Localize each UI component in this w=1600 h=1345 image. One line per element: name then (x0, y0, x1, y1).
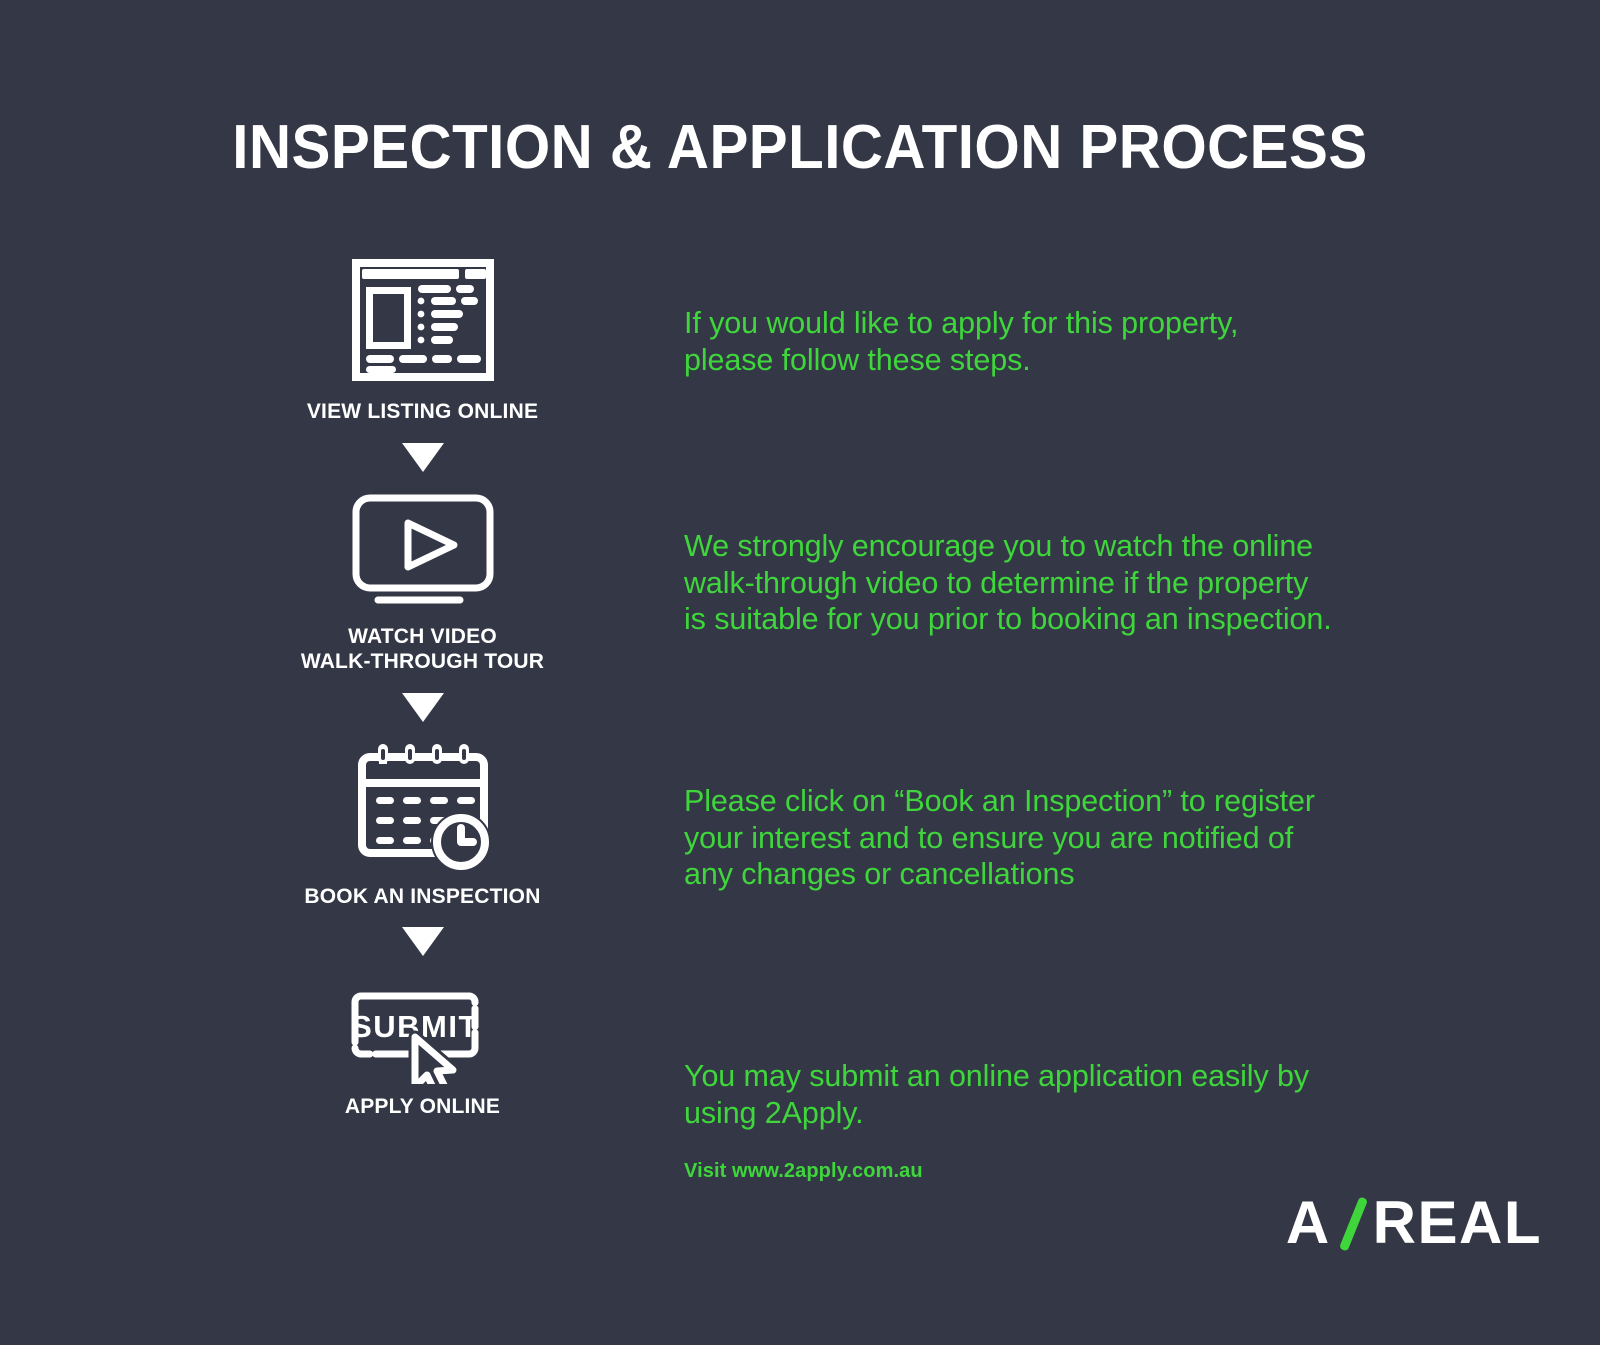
step-label: BOOK AN INSPECTION (285, 884, 560, 910)
infographic-page: INSPECTION & APPLICATION PROCESS (0, 0, 1600, 1345)
triangle-down-icon (285, 693, 560, 722)
page-title: INSPECTION & APPLICATION PROCESS (48, 112, 1552, 183)
areal-logo: A REAL (1286, 1192, 1542, 1254)
logo-prefix: A (1286, 1193, 1331, 1253)
calendar-clock-icon (285, 740, 560, 870)
submit-button-cursor-icon: SUBMIT (285, 974, 560, 1084)
step-apply-online: SUBMIT APPLY ONLINE (285, 974, 560, 1120)
step-copy-book-inspection: Please click on “Book an Inspection” to … (684, 783, 1444, 893)
step-label: WATCH VIDEO WALK-THROUGH TOUR (285, 624, 560, 675)
logo-suffix: REAL (1373, 1193, 1542, 1253)
triangle-down-icon (285, 927, 560, 956)
video-play-screen-icon (285, 490, 560, 610)
slash-icon (1337, 1194, 1371, 1252)
step-book-inspection: BOOK AN INSPECTION (285, 740, 560, 910)
step-label: VIEW LISTING ONLINE (285, 399, 560, 425)
step-view-listing-online: VIEW LISTING ONLINE (285, 255, 560, 425)
step-copy-apply-online: You may submit an online application eas… (684, 1058, 1444, 1131)
step-copy-watch-video: We strongly encourage you to watch the o… (684, 528, 1444, 638)
step-copy-view-listing: If you would like to apply for this prop… (684, 305, 1444, 378)
step-watch-video: WATCH VIDEO WALK-THROUGH TOUR (285, 490, 560, 675)
process-flow: VIEW LISTING ONLINE WATCH VIDEO WALK-THR… (285, 255, 560, 1120)
browser-listing-icon (285, 255, 560, 385)
triangle-down-icon (285, 443, 560, 472)
step-label: APPLY ONLINE (285, 1094, 560, 1120)
visit-url-text[interactable]: Visit www.2apply.com.au (684, 1160, 923, 1183)
